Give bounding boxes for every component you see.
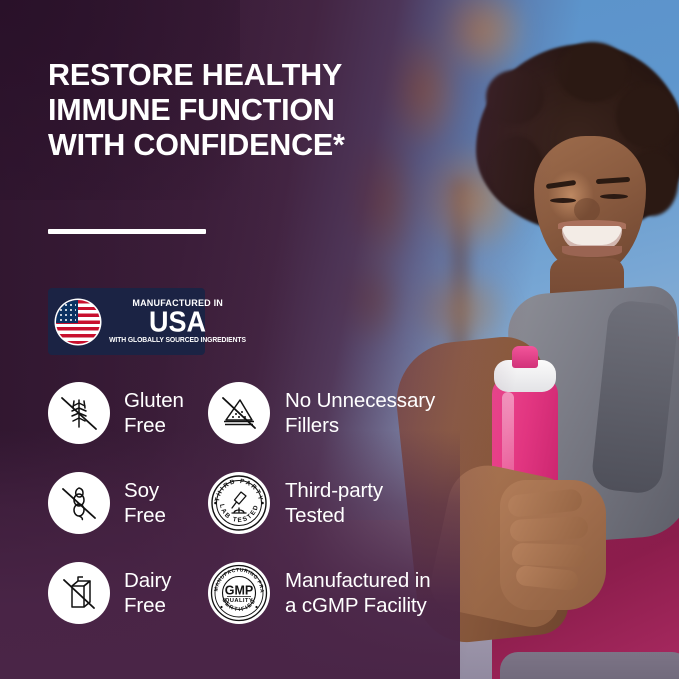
usa-badge-line-3: WITH GLOBALLY SOURCED INGREDIENTS <box>109 336 246 346</box>
feature-row: Gluten Free <box>48 382 448 472</box>
feature-item-no-fillers: No Unnecessary Fillers <box>208 382 448 444</box>
feature-item-gluten-free: Gluten Free <box>48 382 208 444</box>
feature-item-cgmp-facility: GOOD MANUFACTURING PRACTICE CERTIFIED GM… <box>208 562 448 624</box>
feature-item-third-party-tested: THIRD PARTY LAB TESTED <box>208 472 448 534</box>
filler-powder-crossed-out-icon <box>208 382 270 444</box>
svg-text:LAB TESTED: LAB TESTED <box>218 503 260 524</box>
divider-rule <box>48 229 206 234</box>
gmp-quality-certified-seal-icon: GOOD MANUFACTURING PRACTICE CERTIFIED GM… <box>208 562 270 624</box>
svg-text:GMP: GMP <box>225 584 253 598</box>
third-party-lab-tested-seal-icon: THIRD PARTY LAB TESTED <box>208 472 270 534</box>
manufactured-in-usa-badge: MANUFACTURED IN USA WITH GLOBALLY SOURCE… <box>48 288 205 355</box>
usa-badge-usa-word: USA <box>149 308 206 337</box>
promo-banner: RESTORE HEALTHY IMMUNE FUNCTION WITH CON… <box>0 0 679 679</box>
feature-item-soy-free: Soy Free <box>48 472 208 534</box>
usa-badge-text: MANUFACTURED IN USA WITH GLOBALLY SOURCE… <box>107 298 248 346</box>
headline: RESTORE HEALTHY IMMUNE FUNCTION WITH CON… <box>48 58 448 163</box>
milk-carton-crossed-out-icon <box>48 562 110 624</box>
wheat-crossed-out-icon <box>48 382 110 444</box>
headline-line-3: WITH CONFIDENCE* <box>48 128 448 163</box>
feature-label-gluten-free: Gluten Free <box>124 388 184 438</box>
feature-label-cgmp-facility: Manufactured in a cGMP Facility <box>285 568 431 618</box>
feature-list: Gluten Free <box>48 382 448 652</box>
soybean-crossed-out-icon <box>48 472 110 534</box>
feature-label-no-fillers: No Unnecessary Fillers <box>285 388 435 438</box>
content-layer: RESTORE HEALTHY IMMUNE FUNCTION WITH CON… <box>0 0 679 679</box>
feature-label-third-party-tested: Third-party Tested <box>285 478 383 528</box>
feature-label-soy-free: Soy Free <box>124 478 166 528</box>
headline-line-2: IMMUNE FUNCTION <box>48 93 448 128</box>
feature-row: Dairy Free <box>48 562 448 652</box>
headline-line-1: RESTORE HEALTHY <box>48 58 448 93</box>
feature-label-dairy-free: Dairy Free <box>124 568 171 618</box>
svg-text:QUALITY: QUALITY <box>225 598 253 604</box>
feature-item-dairy-free: Dairy Free <box>48 562 208 624</box>
feature-row: Soy Free T <box>48 472 448 562</box>
usa-flag-circle-icon <box>56 300 100 344</box>
